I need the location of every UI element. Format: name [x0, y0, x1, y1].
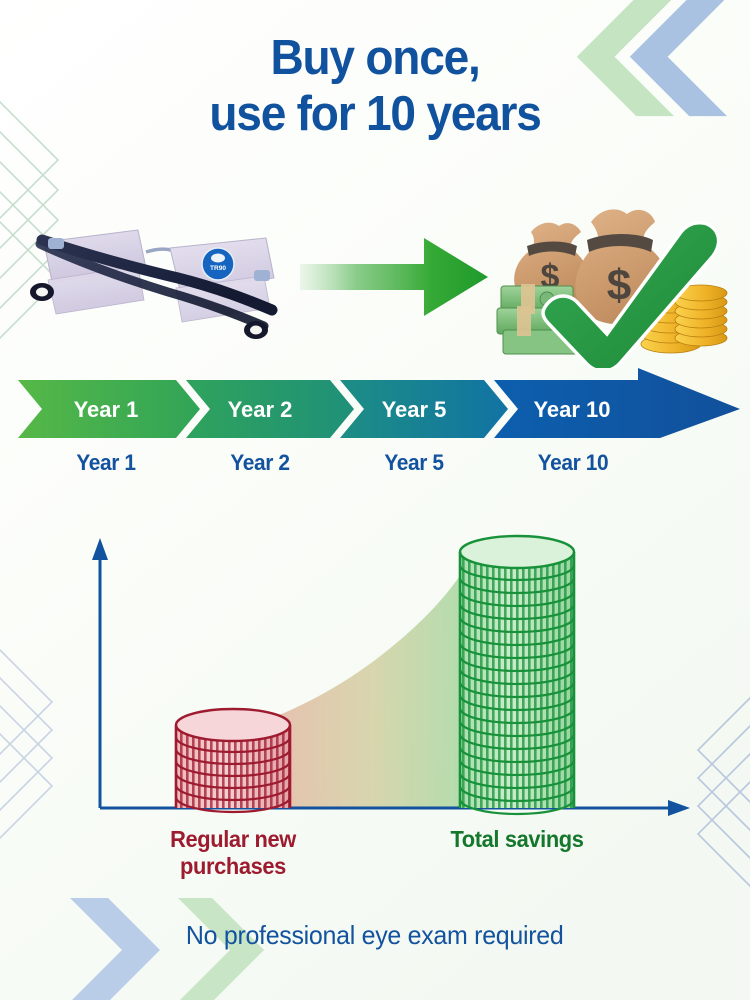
timeline-tick-label-4: Year 10 [504, 450, 643, 476]
reading-glasses-icon: TR90 [18, 204, 348, 354]
timeline-tick-label-2: Year 2 [194, 450, 327, 476]
money-savings-icon: $ $ [495, 196, 740, 368]
y-axis-arrow-icon [92, 538, 108, 560]
timeline-segment-label-4: Year 10 [533, 397, 610, 422]
title-line-2: use for 10 years [23, 86, 728, 142]
infographic-page: Buy once, use for 10 years [0, 0, 750, 1000]
page-title: Buy once, use for 10 years [0, 30, 750, 142]
hero-illustration-row: TR90 [0, 196, 750, 368]
red-coin-stack-icon [176, 709, 290, 812]
timeline-arrow: Year 1 Year 2 Year 5 Year 10 [0, 368, 750, 438]
chart-label-total-savings: Total savings [427, 826, 608, 853]
timeline-segment-label-3: Year 5 [382, 397, 447, 422]
timeline-segment-4[interactable] [494, 368, 740, 438]
svg-text:$: $ [607, 261, 631, 310]
timeline-tick-label-1: Year 1 [40, 450, 173, 476]
lens-sticker-icon [202, 248, 234, 280]
svg-text:TR90: TR90 [210, 265, 226, 272]
timeline-segment-label-1: Year 1 [74, 397, 139, 422]
timeline-segment-label-2: Year 2 [228, 397, 293, 422]
timeline-tick-label-3: Year 5 [348, 450, 481, 476]
green-coin-stack-icon [460, 536, 574, 814]
timeline-tick-labels: Year 1 Year 2 Year 5 Year 10 [0, 450, 750, 484]
chart-category-labels: Regular new purchases Total savings [0, 826, 750, 896]
green-right-arrow-icon [300, 232, 490, 322]
savings-growth-chart [0, 520, 750, 830]
x-axis-arrow-icon [668, 800, 690, 816]
chart-label-red-line-1: Regular new [145, 826, 322, 853]
chart-label-red-line-2: purchases [145, 853, 322, 880]
footer-text: No professional eye exam required [186, 920, 564, 951]
title-line-1: Buy once, [23, 30, 728, 86]
chart-label-regular-purchases: Regular new purchases [145, 826, 322, 880]
footer: No professional eye exam required [0, 920, 750, 951]
